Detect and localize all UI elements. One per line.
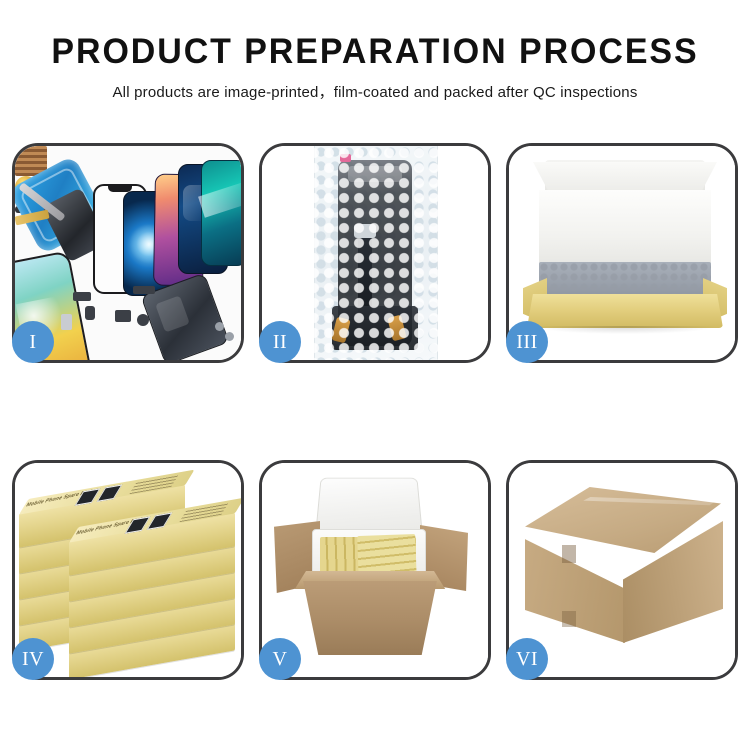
process-step-panel-2[interactable]: II: [259, 143, 491, 363]
box-front-panel: [527, 294, 723, 328]
process-step-panel-4[interactable]: Mobile Phone Spare Parts Mobile Phone Sp…: [12, 460, 244, 680]
process-step-panel-5[interactable]: V: [259, 460, 491, 680]
small-part-e: [133, 286, 155, 294]
process-step-panel-6[interactable]: VI: [506, 460, 738, 680]
page-title: PRODUCT PREPARATION PROCESS: [11, 34, 739, 71]
step-badge-4: IV: [12, 638, 54, 680]
process-step-panel-3[interactable]: III: [506, 143, 738, 363]
foam-box-lid: [315, 478, 423, 536]
box-lid-flap: [533, 162, 717, 190]
carton-front-panel: [294, 581, 446, 655]
page-subtitle: All products are image-printed，film-coat…: [0, 81, 750, 102]
carton-seam-upper: [562, 545, 576, 563]
process-step-panel-1[interactable]: I: [12, 143, 244, 363]
lcd-connector: [354, 224, 376, 238]
small-part-f: [61, 314, 72, 330]
process-step-grid: I II: [12, 143, 738, 680]
box-stack: Mobile Phone Spare Parts Mobile Phone Sp…: [19, 481, 241, 671]
small-part-d: [137, 314, 149, 326]
step-badge-6: VI: [506, 638, 548, 680]
pink-label-sticker: [340, 154, 351, 162]
step-badge-1: I: [12, 321, 54, 363]
carton-seam-lower: [562, 611, 576, 627]
step-badge-2: II: [259, 321, 301, 363]
screw-part-a: [215, 322, 224, 331]
screw-part-b: [225, 332, 234, 341]
box-drop-shadow: [535, 326, 715, 334]
small-part-b: [85, 306, 95, 320]
teal-display-phone: [201, 160, 241, 266]
small-part-a: [73, 292, 91, 301]
step-badge-5: V: [259, 638, 301, 680]
box-lid-inner-face: [539, 190, 711, 268]
page-header: PRODUCT PREPARATION PROCESS All products…: [0, 0, 750, 102]
small-part-c: [115, 310, 131, 322]
step-badge-3: III: [506, 321, 548, 363]
